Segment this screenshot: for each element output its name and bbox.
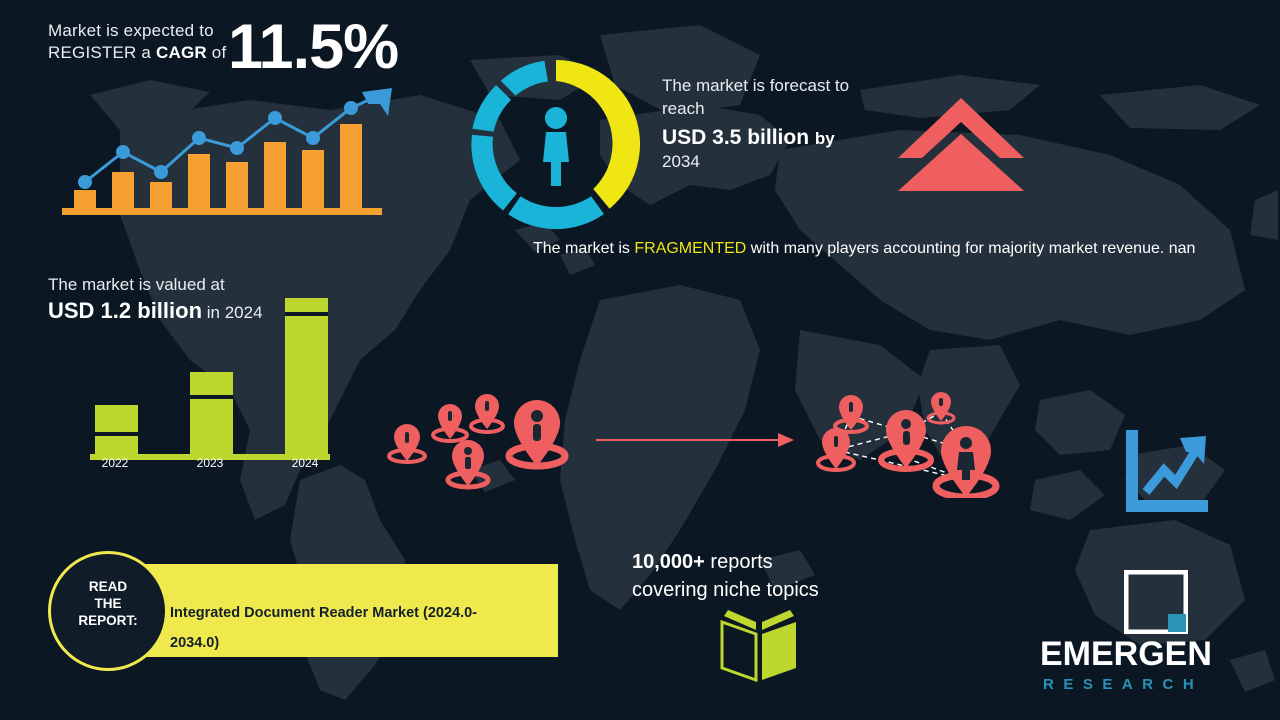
read-report-line2: THE: [48, 595, 168, 612]
forecast-value: USD 3.5 billion by: [662, 125, 902, 151]
reports-count: 10,000+: [632, 551, 705, 573]
map-pin-small-3: [471, 394, 503, 432]
map-pin-node-5: [936, 426, 996, 497]
donut-slice-d: [508, 196, 604, 229]
map-pin-node-3: [818, 428, 854, 470]
bar-2023: [190, 372, 233, 458]
infographic-canvas: Market is expected to REGISTER a CAGR of…: [0, 0, 1280, 720]
bar-label-2023: 2023: [185, 456, 235, 470]
cagr-value: 11.5%: [228, 16, 398, 79]
read-report-line1: READ: [48, 578, 168, 595]
bar-2022-divider: [95, 432, 138, 436]
market-value-bar-chart: [80, 290, 330, 460]
donut-slice-leading: [556, 60, 640, 209]
reports-statement: 10,000+ reports covering niche topics: [632, 548, 912, 604]
cagr-caption-line2-post: of: [207, 43, 227, 62]
forecast-value-number: USD 3.5 billion: [662, 126, 809, 149]
fragmentation-statement: The market is FRAGMENTED with many playe…: [533, 237, 1213, 261]
donut-slice-a: [501, 61, 548, 96]
map-pin-node-4: [881, 410, 931, 469]
bar-2023-divider: [190, 395, 233, 399]
map-pin-node-1: [835, 395, 867, 432]
bar-2024-divider: [285, 312, 328, 316]
fragmentation-highlight: FRAGMENTED: [634, 240, 746, 257]
person-icon: [543, 107, 569, 186]
transition-arrow: [596, 430, 796, 450]
bar-2022: [95, 405, 138, 458]
bar-label-2022: 2022: [90, 456, 140, 470]
map-pin-small-4: [448, 440, 488, 487]
fragmentation-post: with many players accounting for majorit…: [746, 240, 1195, 257]
growth-chart-icon: [1120, 428, 1210, 518]
donut-slice-b: [472, 85, 511, 132]
reports-line2: covering niche topics: [632, 576, 912, 604]
networked-location-pins: [806, 388, 1016, 498]
map-pin-node-2: [928, 392, 954, 423]
reports-suffix: reports: [705, 551, 773, 573]
read-report-line3: REPORT:: [48, 612, 168, 629]
logo-subtitle: RESEARCH: [1043, 676, 1203, 693]
bar-2024: [285, 298, 328, 458]
donut-slice-c: [471, 135, 516, 211]
read-report-badge-label: READ THE REPORT:: [48, 578, 168, 629]
growth-trend-chart: [62, 86, 422, 226]
up-arrows-icon: [896, 96, 1026, 191]
map-pin-small-2: [433, 404, 467, 441]
growth-trend-baseline: [62, 208, 382, 215]
cagr-keyword: CAGR: [156, 43, 207, 62]
emergen-logo-mark: [1124, 570, 1188, 634]
bar-label-2024: 2024: [280, 456, 330, 470]
forecast-by-label: by: [815, 129, 835, 148]
open-book-icon: [716, 608, 802, 682]
logo-name: EMERGEN: [1040, 635, 1212, 674]
forecast-year: 2034: [662, 152, 700, 172]
cagr-caption-line2-pre: REGISTER a: [48, 43, 156, 62]
scattered-location-pins: [382, 388, 582, 493]
report-title[interactable]: Integrated Document Reader Market (2024.…: [170, 598, 490, 658]
fragmentation-pre: The market is: [533, 240, 634, 257]
map-pin-small-1: [389, 424, 425, 462]
forecast-caption: The market is forecast to reach: [662, 74, 892, 120]
map-pin-large-1: [509, 400, 565, 466]
market-share-donut: [468, 56, 644, 232]
green-bars: [95, 298, 328, 458]
